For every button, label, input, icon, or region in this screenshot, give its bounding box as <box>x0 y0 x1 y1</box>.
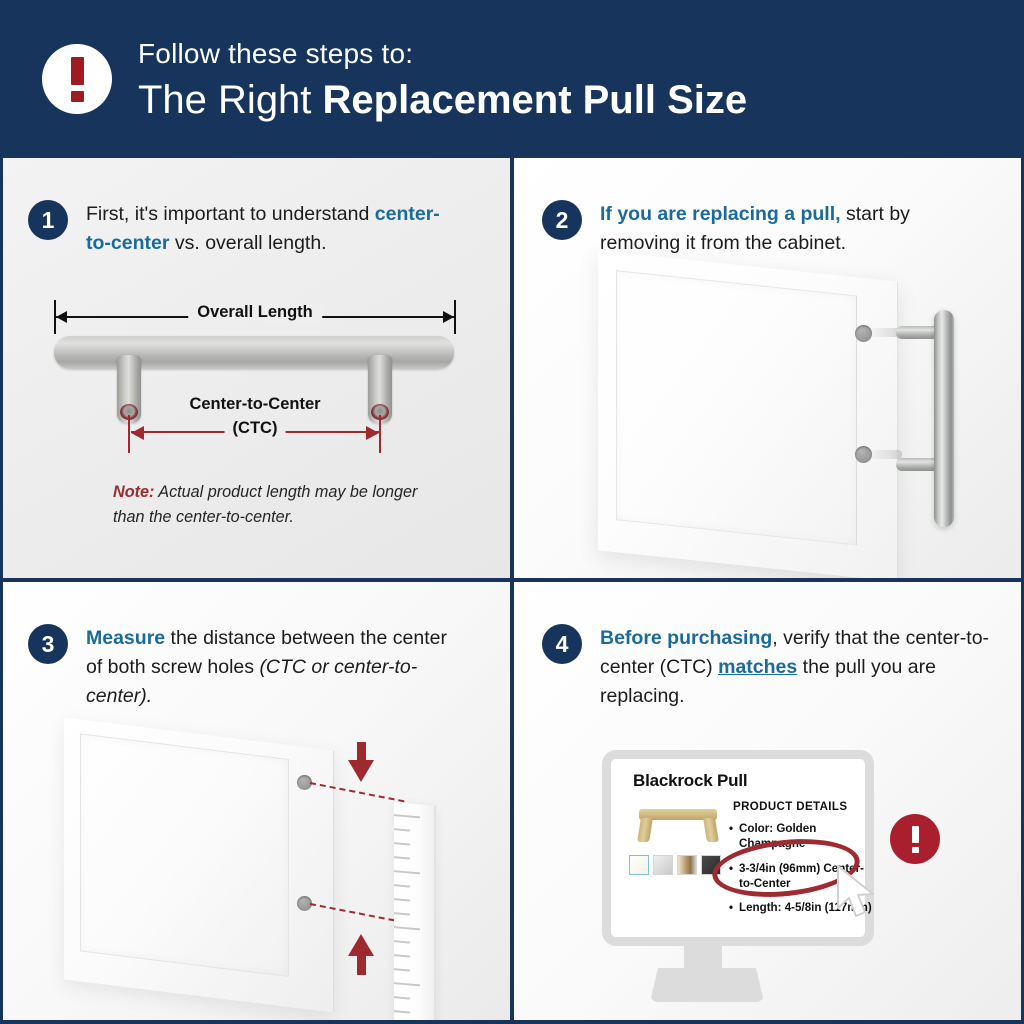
monitor-stand <box>684 946 722 970</box>
product-pull-leg-left <box>637 818 653 842</box>
infographic-page: Follow these steps to: The Right Replace… <box>0 0 1024 1024</box>
page-title-bold: Replacement Pull Size <box>323 78 748 122</box>
step-2-text: If you are replacing a pull, start by re… <box>600 200 942 258</box>
overall-length-dimension: Overall Length <box>45 300 465 334</box>
vertical-divider <box>510 158 514 1024</box>
header-kicker: Follow these steps to: <box>138 36 747 71</box>
step-2-header: 2 If you are replacing a pull, start by … <box>542 200 942 258</box>
ctc-guide-right <box>379 415 381 453</box>
overall-tick-right <box>454 300 456 334</box>
step-badge-1: 1 <box>28 200 68 240</box>
thumbnail-wood-cabinet[interactable] <box>677 855 697 875</box>
header-text-block: Follow these steps to: The Right Replace… <box>138 36 747 123</box>
pull-measurement-diagram: Overall Length Center-to-Center (CTC) <box>45 300 465 450</box>
bar-pull-graphic <box>54 336 454 369</box>
detached-bar-pull <box>934 310 954 527</box>
step-3-header: 3 Measure the distance between the cente… <box>28 624 448 711</box>
exclamation-icon <box>42 44 112 114</box>
up-arrow-icon <box>348 934 374 956</box>
thumbnail-gold-pull[interactable] <box>629 855 649 875</box>
steps-grid: 1 First, it's important to understand ce… <box>0 158 1024 1024</box>
cabinet-door-inset-3 <box>80 733 289 977</box>
product-image <box>631 803 723 851</box>
down-arrow-stem-icon <box>357 742 366 762</box>
cabinet-door-graphic <box>598 250 898 578</box>
ctc-label-abbrev: (CTC) <box>225 419 286 438</box>
monitor-base <box>650 968 764 1002</box>
page-title: The Right Replacement Pull Size <box>138 77 747 123</box>
down-arrow-icon <box>348 760 374 782</box>
ctc-label: Center-to-Center <box>189 395 320 414</box>
step-panel-1: 1 First, it's important to understand ce… <box>0 158 510 578</box>
mouse-pointer-icon <box>834 864 878 920</box>
up-arrow-stem-icon <box>357 955 366 975</box>
product-page-illustration: Blackrock Pull PRODUCT DETAILS <box>514 582 1024 1024</box>
step-1-text: First, it's important to understand cent… <box>86 200 458 258</box>
product-pull-leg-right <box>703 818 719 842</box>
header-banner: Follow these steps to: The Right Replace… <box>0 0 1024 158</box>
exclamation-alert-icon <box>890 814 940 864</box>
overall-length-label: Overall Length <box>188 303 322 322</box>
thumbnail-strip[interactable] <box>629 855 721 875</box>
step-panel-4: 4 Before purchasing, verify that the cen… <box>514 582 1024 1024</box>
horizontal-divider <box>0 578 1024 582</box>
step-1-text-a: First, it's important to understand <box>86 203 375 225</box>
step-3-text: Measure the distance between the center … <box>86 624 448 711</box>
cabinet-door-inset <box>616 270 857 545</box>
step-badge-3: 3 <box>28 624 68 664</box>
bar-pull-post-left <box>117 355 141 423</box>
cabinet-door-graphic-3 <box>64 717 334 1012</box>
page-title-light: The Right <box>138 78 323 122</box>
overall-arrow-right-icon <box>443 311 454 323</box>
step-1-text-b: vs. overall length. <box>169 232 326 254</box>
step-2-text-highlight: If you are replacing a pull, <box>600 203 841 225</box>
step-panel-2: 2 If you are replacing a pull, start by … <box>514 158 1024 578</box>
ruler-graphic <box>394 802 436 1024</box>
step-1-header: 1 First, it's important to understand ce… <box>28 200 458 258</box>
product-title: Blackrock Pull <box>633 771 747 791</box>
ctc-arrow-left-icon <box>131 426 144 440</box>
product-details-heading: PRODUCT DETAILS <box>733 801 847 813</box>
step-panel-3: 3 Measure the distance between the cente… <box>0 582 510 1024</box>
thumbnail-silver-pull[interactable] <box>653 855 673 875</box>
step-1-note: Note: Actual product length may be longe… <box>113 480 453 530</box>
step-badge-2: 2 <box>542 200 582 240</box>
ctc-arrow-right-icon <box>366 426 379 440</box>
left-border <box>0 158 3 1024</box>
post-shadow-bottom <box>866 450 902 459</box>
overall-arrow-left-icon <box>56 311 67 323</box>
step-3-text-highlight: Measure <box>86 627 165 649</box>
note-prefix: Note: <box>113 483 154 501</box>
bottom-border <box>0 1020 1024 1024</box>
ctc-guide-left <box>128 415 130 453</box>
note-body: Actual product length may be longer than… <box>113 483 417 526</box>
bar-pull-post-right <box>368 355 392 423</box>
